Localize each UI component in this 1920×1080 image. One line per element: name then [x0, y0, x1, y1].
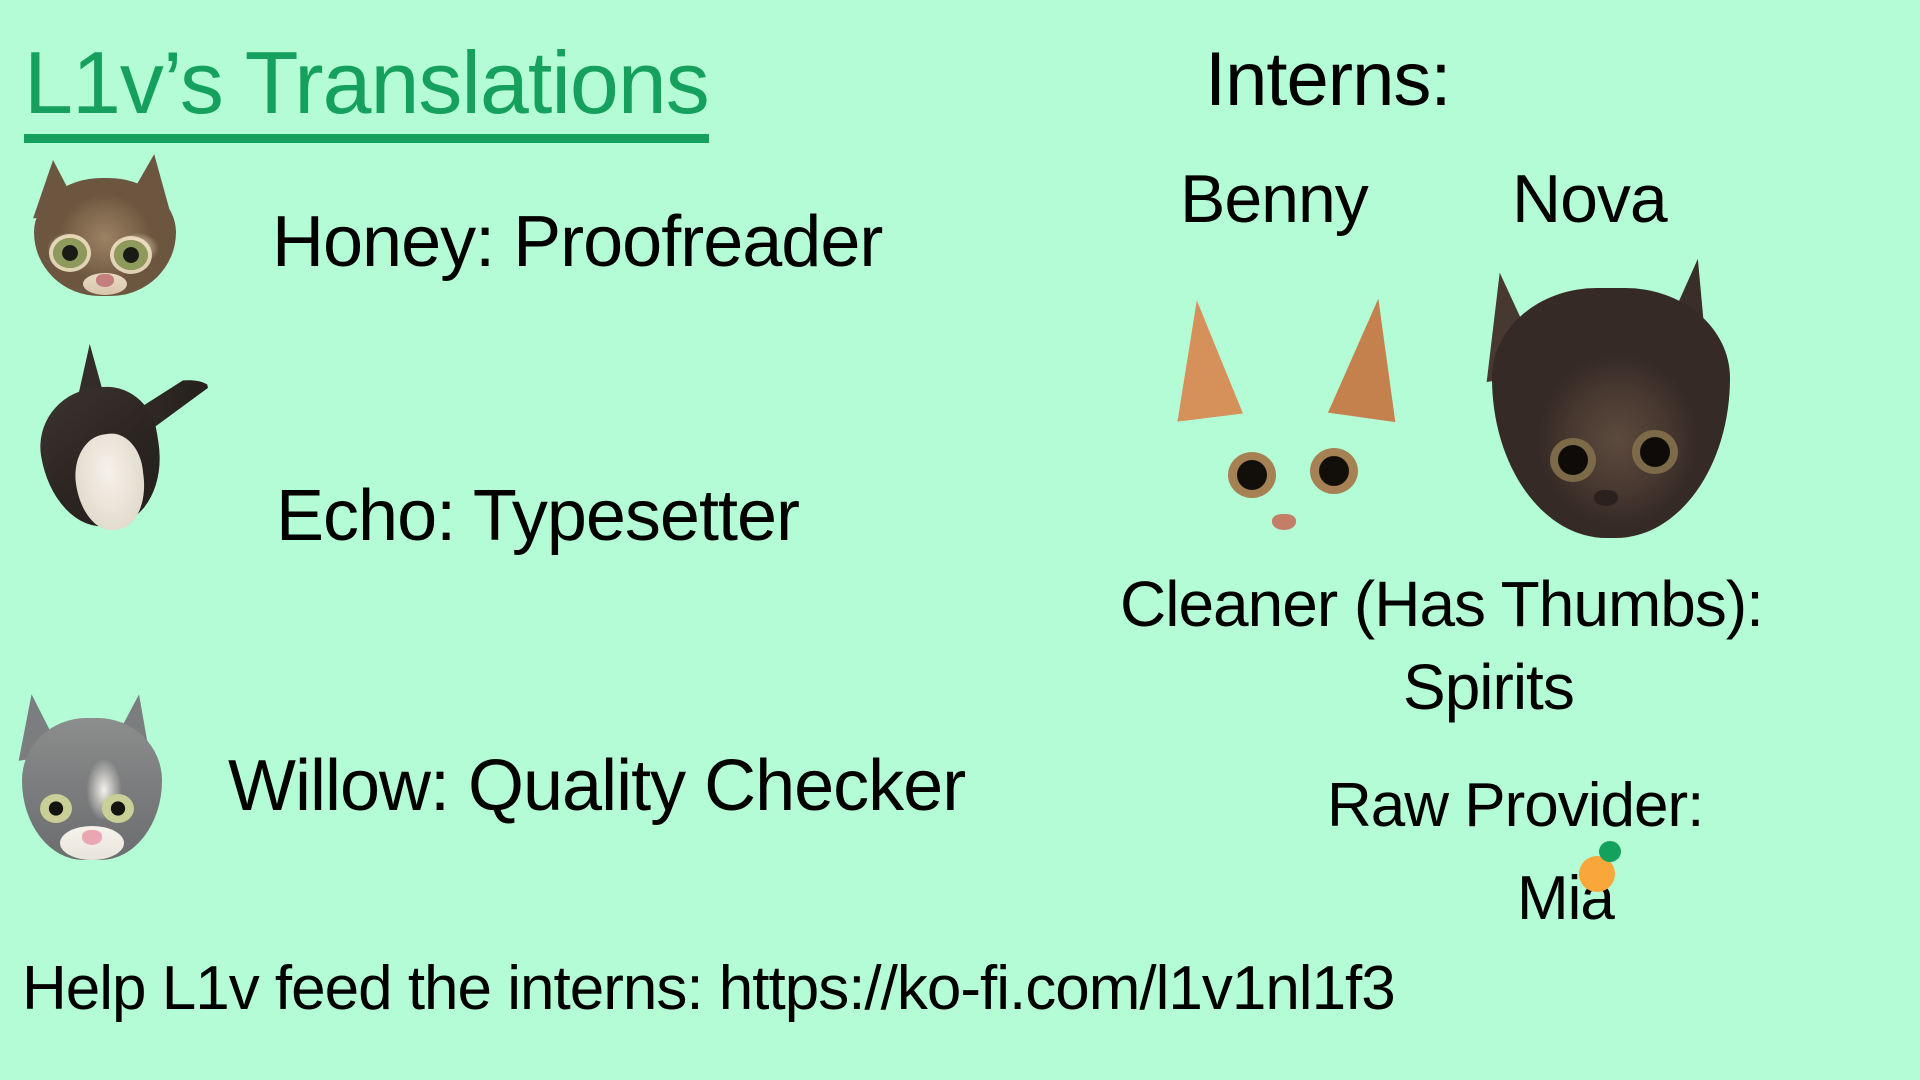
cat-eye-right-icon [102, 794, 134, 823]
cat-eye-right-icon [114, 240, 148, 270]
cat-eye-left-icon [40, 794, 72, 823]
tangerine-leaf-shape [1599, 841, 1621, 862]
cleaner-role-label: Cleaner (Has Thumbs): [1120, 572, 1763, 636]
intern-name-benny: Benny [1180, 165, 1368, 233]
role-label-willow: Willow: Quality Checker [228, 750, 965, 822]
intern-name-nova: Nova [1512, 165, 1667, 233]
cleaner-name: Spirits [1403, 655, 1574, 719]
raw-provider-name: Mia [1517, 868, 1614, 930]
willow-cat-photo [8, 690, 176, 862]
cat-nose-icon [1594, 490, 1618, 506]
cat-head-shape [1184, 322, 1414, 568]
raw-provider-label: Raw Provider: [1327, 775, 1703, 837]
honey-cat-photo [26, 152, 184, 297]
role-label-echo: Echo: Typesetter [276, 480, 799, 552]
benny-cat-photo [1168, 300, 1430, 572]
credits-slide: L1v’s Translations Honey: Proofreader Ec… [0, 0, 1920, 1080]
role-label-honey: Honey: Proofreader [272, 206, 882, 278]
echo-cat-photo [24, 338, 202, 528]
page-title: L1v’s Translations [24, 38, 709, 143]
cat-eye-left-icon [1550, 438, 1596, 482]
cat-eye-right-icon [1310, 448, 1358, 494]
interns-heading: Interns: [1205, 42, 1450, 118]
cat-eye-right-icon [1632, 430, 1678, 474]
cat-nose-icon [96, 274, 114, 287]
kofi-support-line[interactable]: Help L1v feed the interns: https://ko-fi… [22, 958, 1395, 1020]
cat-nose-icon [82, 830, 102, 845]
nova-cat-photo [1478, 262, 1746, 544]
cat-eye-left-icon [1228, 452, 1276, 498]
cat-eye-left-icon [53, 238, 87, 268]
cat-nose-icon [1272, 514, 1296, 530]
